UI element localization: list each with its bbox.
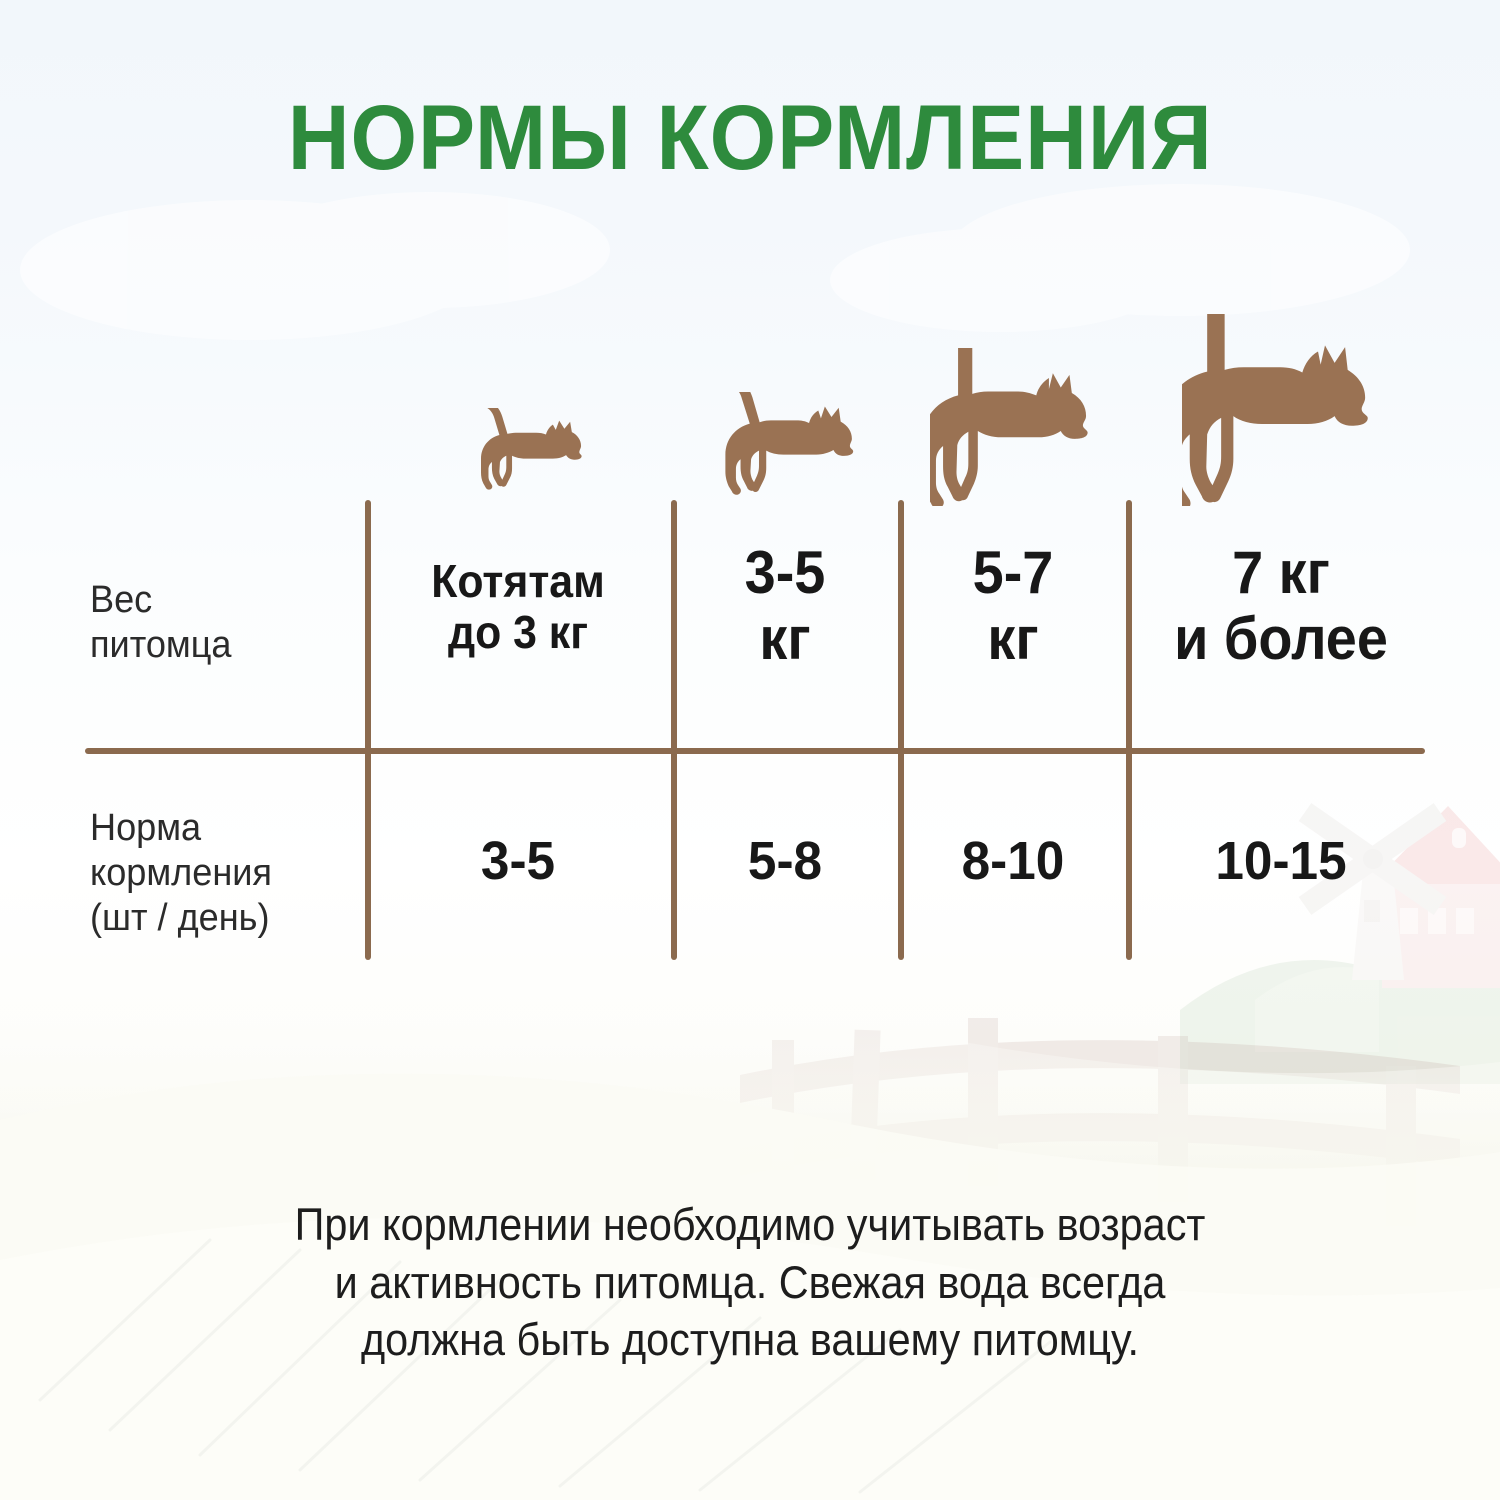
value-cell-norm-0: 3-5 bbox=[379, 832, 656, 891]
row-label-norm: Норма кормления (шт / день) bbox=[90, 806, 328, 940]
column-divider-2 bbox=[671, 500, 677, 960]
header-cell-1-line1: 3-5 bbox=[684, 540, 887, 606]
value-cell-norm-1: 5-8 bbox=[681, 832, 888, 891]
row-label-norm-line3: (шт / день) bbox=[90, 896, 328, 941]
footer-note: При кормлении необходимо учитывать возра… bbox=[170, 1196, 1329, 1369]
row-label-weight-line1: Вес bbox=[90, 578, 328, 623]
header-cell-2-line1: 5-7 bbox=[911, 540, 1116, 606]
value-cell-norm-2: 8-10 bbox=[909, 832, 1118, 891]
row-label-weight-line2: питомца bbox=[90, 623, 328, 668]
row-divider bbox=[85, 748, 1425, 754]
row-label-norm-line1: Норма bbox=[90, 806, 328, 851]
header-cell-weight-1: 3-5 кг bbox=[684, 540, 887, 672]
header-cell-0-line2: до 3 кг bbox=[382, 607, 654, 658]
feeding-guide-poster: НОРМЫ КОРМЛЕНИЯ Вес питомца bbox=[0, 0, 1500, 1500]
header-cell-2-line2: кг bbox=[911, 606, 1116, 672]
column-divider-4 bbox=[1126, 500, 1132, 960]
footer-line-3: должна быть доступна вашему питомцу. bbox=[170, 1311, 1329, 1369]
header-cell-weight-0: Котятам до 3 кг bbox=[382, 556, 654, 657]
footer-line-1: При кормлении необходимо учитывать возра… bbox=[170, 1196, 1329, 1254]
header-cell-3-line1: 7 кг bbox=[1142, 540, 1421, 606]
column-divider-1 bbox=[365, 500, 371, 960]
row-label-norm-line2: кормления bbox=[90, 851, 328, 896]
header-cell-0-line1: Котятам bbox=[382, 556, 654, 607]
header-cell-1-line2: кг bbox=[684, 606, 887, 672]
header-cell-weight-3: 7 кг и более bbox=[1142, 540, 1421, 672]
header-cell-3-line2: и более bbox=[1142, 606, 1421, 672]
value-cell-norm-3: 10-15 bbox=[1139, 832, 1424, 891]
row-label-weight: Вес питомца bbox=[90, 578, 328, 668]
header-cell-weight-2: 5-7 кг bbox=[911, 540, 1116, 672]
column-divider-3 bbox=[898, 500, 904, 960]
footer-line-2: и активность питомца. Свежая вода всегда bbox=[170, 1254, 1329, 1312]
